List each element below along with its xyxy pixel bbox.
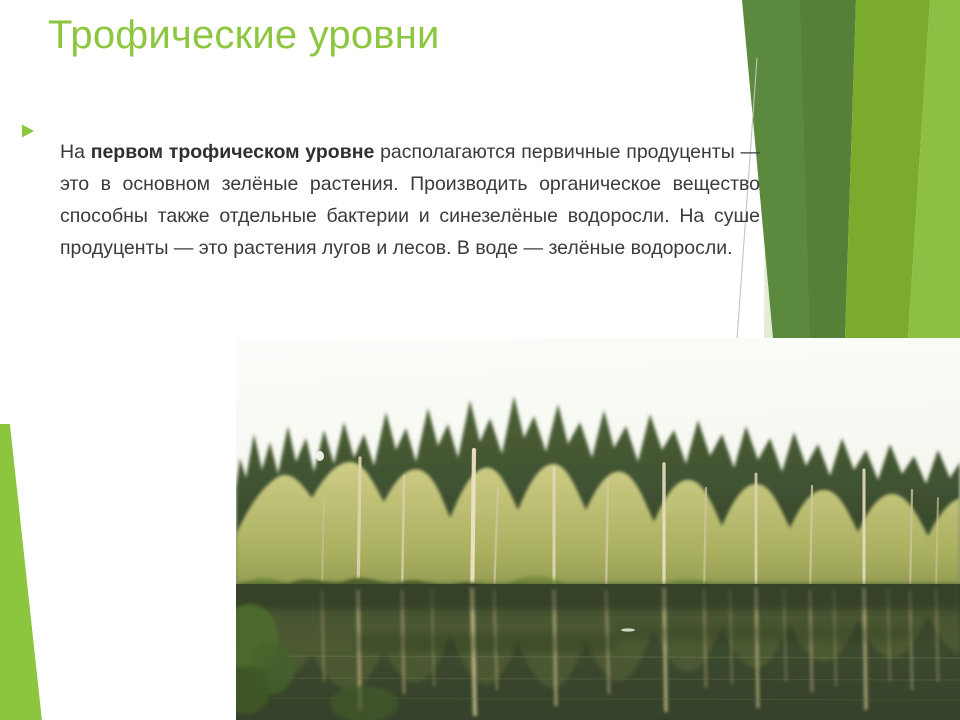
deco-light-green-stripe [908, 0, 960, 338]
slide-title: Трофические уровни [48, 12, 708, 59]
forest-lake-reflection-photo [236, 338, 960, 720]
water-glint [621, 628, 635, 631]
presentation-slide: Трофические уровни На первом трофическом… [0, 0, 960, 720]
deco-pale-green-sliver [764, 0, 800, 338]
deco-mid-green-stripe [800, 0, 856, 338]
deco-bright-green-stripe [845, 0, 930, 338]
paragraph-emphasis: первом трофическом уровне [91, 141, 375, 163]
deco-bottom-left-wedge [0, 424, 42, 720]
bullet-list-item: На первом трофическом уровне располагают… [18, 116, 760, 283]
paragraph-lead: На [60, 141, 91, 163]
canopy-gap-glint [316, 451, 324, 461]
slide-body: На первом трофическом уровне располагают… [18, 116, 760, 283]
bullet-paragraph: На первом трофическом уровне располагают… [60, 136, 760, 264]
deco-wedge-highlight [10, 424, 48, 720]
triangle-right-bullet-icon [18, 116, 60, 139]
